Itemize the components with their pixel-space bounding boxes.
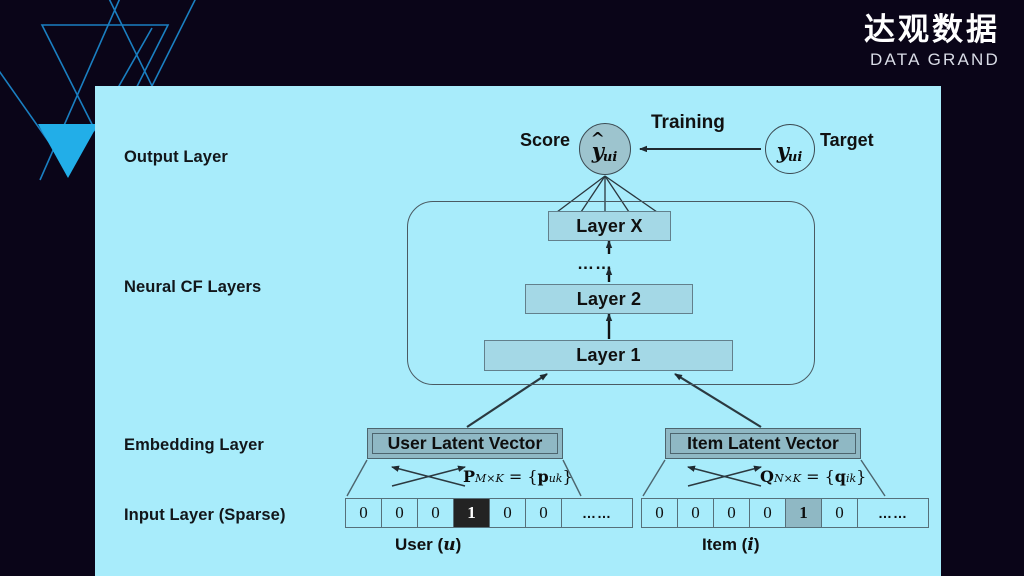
user-vector-cell-4[interactable]: 0 [490, 499, 526, 527]
target-node-math: yui [777, 138, 804, 163]
item-matrix-label: QN×K = {qik} [760, 467, 866, 486]
target-node-subscript: ui [788, 150, 802, 165]
user-matrix-dims: M×K [475, 472, 504, 485]
user-input-vector: 000100…… [345, 498, 633, 528]
score-label: Score [520, 130, 570, 151]
score-node-math: ^yui [592, 138, 619, 163]
item-matrix-letter: Q [760, 467, 774, 486]
target-label: Target [820, 130, 874, 151]
layer-x-box[interactable]: Layer X [548, 211, 671, 241]
layer-ellipsis: …… [577, 254, 613, 274]
item-matrix-entry-sub: ik [846, 472, 856, 485]
user-matrix-label: PM×K = {puk} [463, 467, 573, 486]
training-label: Training [651, 112, 725, 134]
user-matrix-letter: P [463, 467, 475, 486]
item-caption-suffix: ) [754, 535, 760, 554]
user-caption: User (u) [395, 535, 461, 555]
item-caption-prefix: Item ( [702, 535, 747, 554]
layer-1-box[interactable]: Layer 1 [484, 340, 733, 371]
brand-name-cn: 达观数据 [864, 14, 1000, 47]
item-vector-cell-6[interactable]: …… [858, 499, 928, 527]
user-vector-cell-2[interactable]: 0 [418, 499, 454, 527]
item-vector-cell-5[interactable]: 0 [822, 499, 858, 527]
item-vector-cell-4[interactable]: 1 [786, 499, 822, 527]
user-vector-cell-3[interactable]: 1 [454, 499, 490, 527]
user-caption-var: u [443, 535, 455, 555]
layer-2-box[interactable]: Layer 2 [525, 284, 693, 314]
user-vector-cell-6[interactable]: …… [562, 499, 632, 527]
user-vector-cell-0[interactable]: 0 [346, 499, 382, 527]
item-matrix-dims: N×K [774, 472, 801, 485]
item-vector-cell-3[interactable]: 0 [750, 499, 786, 527]
target-node[interactable]: yui [765, 124, 815, 174]
slide-canvas: 达观数据 DATA GRAND Output Layer Neural CF L… [0, 0, 1024, 576]
item-input-vector: 000010…… [641, 498, 929, 528]
item-vector-cell-2[interactable]: 0 [714, 499, 750, 527]
diagram-panel: Output Layer Neural CF Layers Embedding … [95, 86, 941, 576]
user-latent-vector-box[interactable]: User Latent Vector [367, 428, 563, 459]
hat-glyph: ^ [591, 129, 605, 149]
item-latent-vector-box[interactable]: Item Latent Vector [665, 428, 861, 459]
user-matrix-entry-sub: uk [549, 472, 563, 485]
item-caption: Item (i) [702, 535, 759, 555]
user-matrix-entries: p [538, 467, 549, 486]
user-vector-cell-5[interactable]: 0 [526, 499, 562, 527]
item-vector-cell-1[interactable]: 0 [678, 499, 714, 527]
brand-logo: 达观数据 DATA GRAND [864, 14, 1000, 71]
item-vector-cell-0[interactable]: 0 [642, 499, 678, 527]
score-node[interactable]: ^yui [579, 123, 631, 175]
user-caption-suffix: ) [456, 535, 462, 554]
score-node-subscript: ui [603, 150, 617, 165]
user-caption-prefix: User ( [395, 535, 443, 554]
item-matrix-entries: q [835, 467, 846, 486]
brand-name-en: DATA GRAND [864, 49, 1000, 71]
user-vector-cell-1[interactable]: 0 [382, 499, 418, 527]
